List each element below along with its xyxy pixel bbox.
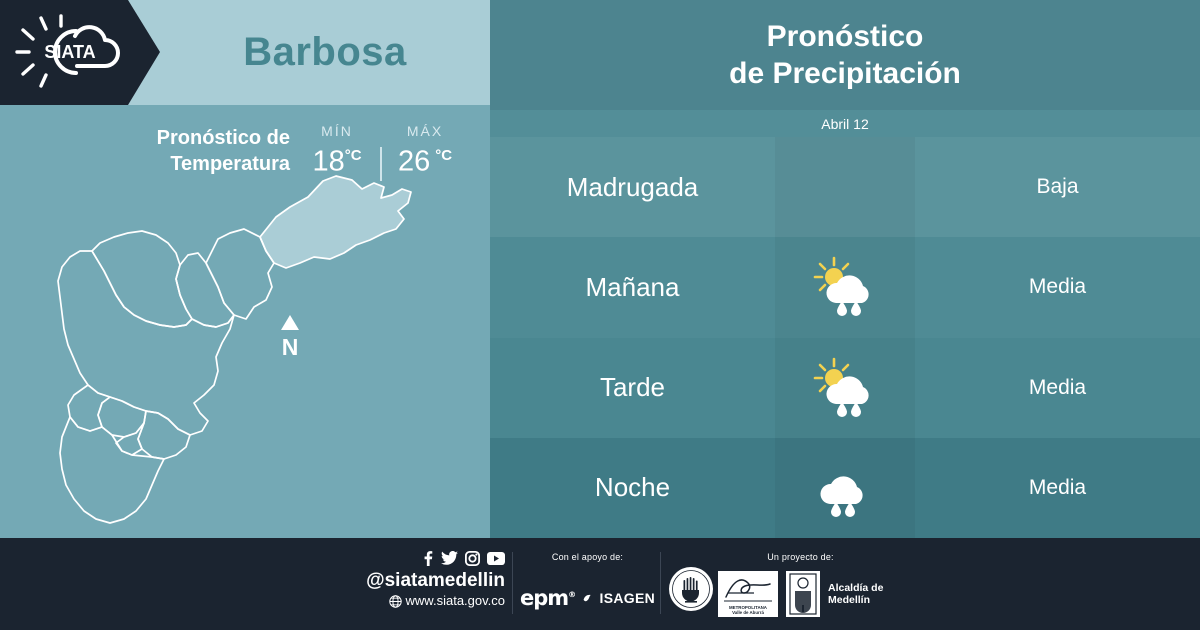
- map-region-bello: [92, 231, 192, 327]
- max-label: MÁX: [386, 123, 464, 139]
- north-arrow-icon: N: [281, 315, 299, 360]
- sun-cloud-rain-icon: [812, 256, 878, 318]
- twitter-icon[interactable]: [441, 551, 458, 566]
- temperature-title-line1: Pronóstico de: [157, 127, 290, 149]
- area-metropolitana-logo[interactable]: METROPOLITANA Valle de Aburrá: [718, 571, 778, 617]
- min-unit: °C: [345, 147, 362, 164]
- social-handle[interactable]: @siatamedellin: [330, 569, 505, 592]
- alcaldia-label: Alcaldía de Medellín: [828, 582, 893, 606]
- area-script-icon: [718, 571, 778, 607]
- precipitation-title-line2: de Precipitación: [729, 55, 961, 92]
- precipitation-header: Pronóstico de Precipitación: [490, 0, 1200, 110]
- project-caption: Un proyecto de:: [718, 552, 883, 562]
- forecast-table: Madrugada Baja Mañana: [490, 137, 1200, 538]
- row-period: Noche: [490, 438, 775, 538]
- youtube-icon[interactable]: [487, 552, 505, 565]
- facebook-icon[interactable]: [421, 551, 434, 566]
- row-icon-cell: [775, 438, 915, 538]
- max-unit: °C: [435, 147, 452, 164]
- row-period: Mañana: [490, 237, 775, 337]
- row-icon-cell: [775, 338, 915, 438]
- instagram-icon[interactable]: [465, 551, 480, 566]
- website-url: www.siata.gov.co: [406, 592, 505, 610]
- map-region-copacabana: [176, 253, 234, 327]
- min-label: MÍN: [298, 123, 376, 139]
- city-title: Barbosa: [160, 0, 490, 105]
- map-region-caldas: [60, 417, 164, 523]
- row-period: Tarde: [490, 338, 775, 438]
- footer-divider-1: [512, 552, 513, 614]
- logo-header-band: SIATA Barbosa: [0, 0, 490, 105]
- isagen-mark-icon: [583, 591, 591, 605]
- row-level: Media: [915, 237, 1200, 337]
- table-row: Madrugada Baja: [490, 137, 1200, 237]
- row-level: Media: [915, 438, 1200, 538]
- moon-cloud-rain-icon: [812, 457, 878, 519]
- forecast-date: Abril 12: [490, 110, 1200, 137]
- moon-icon: [812, 156, 878, 218]
- support-caption: Con el apoyo de:: [520, 552, 655, 562]
- epm-logo[interactable]: epm®: [520, 586, 575, 610]
- row-level: Baja: [915, 137, 1200, 237]
- table-row: Mañana: [490, 237, 1200, 337]
- project-logos: METROPOLITANA Valle de Aburrá Alcaldía d…: [718, 570, 893, 618]
- precipitation-panel: Pronóstico de Precipitación Abril 12 Mad…: [490, 0, 1200, 538]
- north-label: N: [282, 334, 299, 360]
- map-panel: Pronóstico de Temperatura MÍN 18°C MÁX 2…: [0, 105, 490, 538]
- table-row: Noche Media: [490, 438, 1200, 538]
- globe-icon: [389, 595, 402, 608]
- map-region-barbosa: [260, 176, 411, 268]
- social-icons: [330, 548, 505, 568]
- support-block: Con el apoyo de:: [520, 552, 655, 562]
- row-period: Madrugada: [490, 137, 775, 237]
- weather-forecast-card: SIATA Barbosa Pronóstico de Temperatura …: [0, 0, 1200, 630]
- website-row[interactable]: www.siata.gov.co: [330, 592, 505, 610]
- social-block: @siatamedellin www.siata.gov.co: [330, 548, 505, 610]
- map-region-medellin: [58, 251, 234, 435]
- project-block: Un proyecto de:: [718, 552, 883, 562]
- left-panel: SIATA Barbosa Pronóstico de Temperatura …: [0, 0, 490, 538]
- map-region-envigado: [138, 411, 190, 459]
- row-icon-cell: [775, 237, 915, 337]
- siata-logo-icon: SIATA: [14, 14, 130, 90]
- isagen-logo[interactable]: ISAGEN: [600, 590, 655, 606]
- map-region-sabaneta: [116, 423, 144, 455]
- precipitation-title-line1: Pronóstico: [767, 18, 924, 55]
- footer-divider-2: [660, 552, 661, 614]
- row-icon-cell: [775, 137, 915, 237]
- row-level: Media: [915, 338, 1200, 438]
- alcaldia-shield-logo[interactable]: [786, 571, 820, 617]
- table-row: Tarde: [490, 338, 1200, 438]
- footer: @siatamedellin www.siata.gov.co Con el a…: [0, 538, 1200, 630]
- sun-cloud-rain-icon: [812, 357, 878, 419]
- map-region-la-estrella: [68, 385, 110, 431]
- alcaldia-crest-icon: [786, 571, 820, 617]
- map-region-itagui: [98, 397, 146, 437]
- area-sublabel: METROPOLITANA Valle de Aburrá: [718, 605, 778, 615]
- universidad-seal-icon: [668, 566, 714, 612]
- aburra-valley-map: N: [18, 167, 473, 535]
- support-logos: epm® ISAGEN: [520, 586, 655, 610]
- siata-logo-text: SIATA: [44, 42, 95, 62]
